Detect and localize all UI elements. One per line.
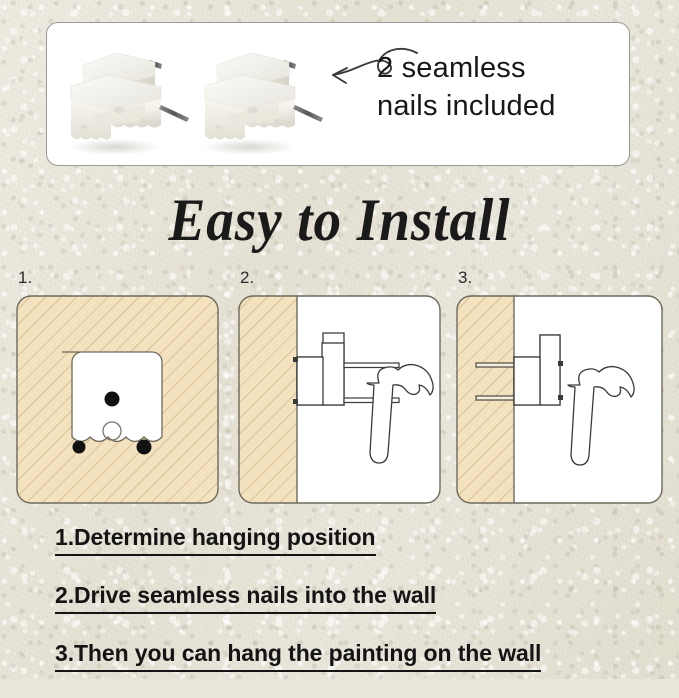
product-photo (57, 29, 347, 161)
instruction-item-3: 3.Then you can hang the painting on the … (55, 640, 541, 672)
step-panel-1: 1. (16, 268, 219, 504)
step-2-diagram (238, 295, 441, 504)
step-panel-2: 2. (238, 268, 441, 504)
step-number-2: 2. (240, 268, 254, 288)
nail-hole-top (105, 392, 120, 407)
page-title: Easy to Install (27, 186, 652, 255)
nail-hole-right (137, 440, 152, 455)
step-3-diagram (456, 295, 663, 504)
hero-caption-line-1: 2 seamless (377, 49, 623, 87)
step-1-diagram (16, 295, 219, 504)
instruction-list: 1.Determine hanging position 2.Drive sea… (55, 524, 655, 698)
hero-card: 2 seamless nails included (46, 22, 630, 166)
instruction-item-2: 2.Drive seamless nails into the wall (55, 582, 436, 614)
nail-icon (476, 396, 518, 400)
hero-caption-line-2: nails included (377, 87, 623, 125)
nail-hole-left (73, 441, 86, 454)
step-panel-3: 3. (456, 268, 663, 504)
nail-icon (476, 363, 518, 367)
hanger-unit-1 (69, 53, 189, 155)
step-number-1: 1. (18, 268, 32, 288)
hanger-unit-2 (203, 53, 323, 155)
instruction-item-1: 1.Determine hanging position (55, 524, 376, 556)
step-number-3: 3. (458, 268, 472, 288)
hero-caption: 2 seamless nails included (377, 49, 623, 126)
